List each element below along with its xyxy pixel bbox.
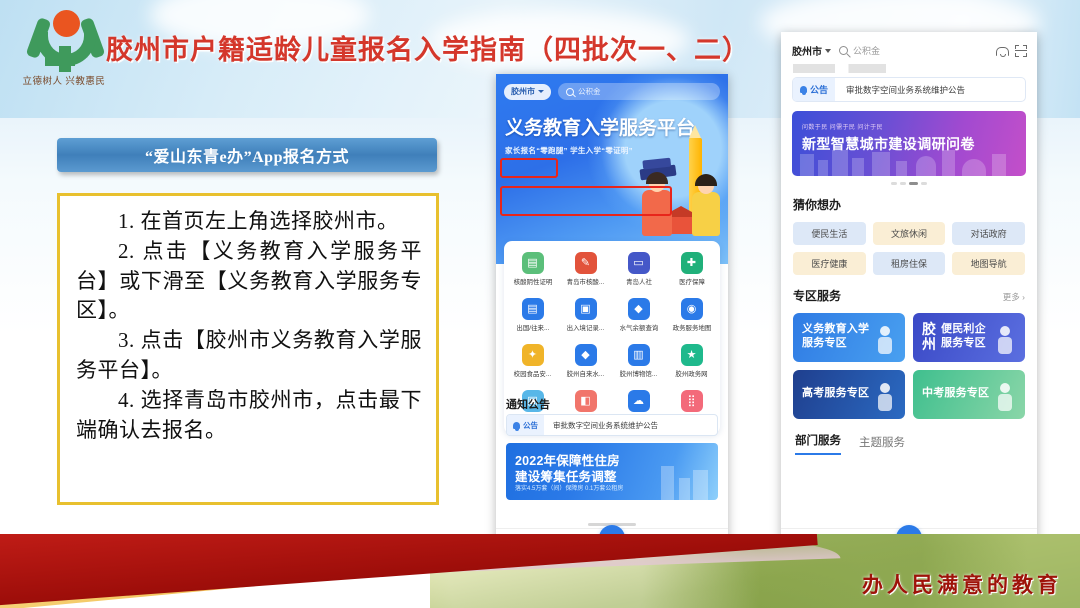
- skyline-shape: [800, 154, 814, 176]
- skyline-shape: [852, 158, 864, 176]
- guess-tag-label: 便民生活: [811, 227, 847, 240]
- skyline-shape: [818, 160, 828, 176]
- promo-banner-carousel[interactable]: 问数于民 问需于民 问计于民 新型智慧城市建设调研问卷: [792, 111, 1026, 176]
- pen-test-icon: ✎: [575, 252, 597, 274]
- bell-icon: [800, 86, 807, 93]
- certificate-icon: ▤: [522, 252, 544, 274]
- zone-card-title: 便民利企服务专区: [941, 323, 986, 351]
- service-grid-item[interactable]: ◆胶州自来水...: [559, 341, 612, 382]
- guess-tag-label: 地图导航: [971, 257, 1007, 270]
- guess-tag[interactable]: 地图导航: [952, 252, 1025, 275]
- service-tabs: 部门服务主题服务: [795, 432, 1037, 455]
- zone-more-link[interactable]: 更多 ›: [1003, 291, 1025, 303]
- zone-card-illustration: [870, 324, 900, 358]
- building-shape: [679, 478, 690, 500]
- service-grid-label: 胶州政务网: [675, 369, 707, 378]
- app-hero-banner: 胶州市 公积金 义务教育入学服务平台 家长报名“零跑腿” 学生入学“零证明”: [496, 74, 728, 264]
- banner-title: 新型智慧城市建设调研问卷: [802, 134, 975, 154]
- notice-bar[interactable]: 公告 审批数字空间业务系统维护公告: [792, 77, 1026, 102]
- droplets-icon: ◆: [575, 344, 597, 366]
- skyline-shape: [916, 156, 936, 176]
- service-grid-item[interactable]: ▤核酸阴性证明: [506, 249, 559, 290]
- zone-card[interactable]: 高考服务专区: [793, 370, 905, 419]
- banner-subtitle: 问数于民 问需于民 问计于民: [802, 122, 883, 131]
- banner-line-3: 落实4.5万套（间）保障房 0.1万套公租房: [515, 483, 623, 492]
- guess-tag[interactable]: 便民生活: [793, 222, 866, 245]
- carousel-dots[interactable]: [781, 182, 1037, 185]
- skyline-shape: [992, 154, 1006, 176]
- service-grid-label: 出入境记录...: [567, 323, 605, 332]
- zone-card[interactable]: 胶州便民利企服务专区: [913, 313, 1025, 362]
- shield-icon: ✦: [522, 344, 544, 366]
- instruction-step: 2. 点击【义务教育入学服务平台】或下滑至【义务教育入学服务专区】。: [76, 237, 422, 326]
- service-grid-item[interactable]: ▭青岛人社: [612, 249, 665, 290]
- city-selector-label: 胶州市: [511, 86, 535, 97]
- zone-more-label: 更多: [1003, 292, 1020, 302]
- zone-card[interactable]: 中考服务专区: [913, 370, 1025, 419]
- notice-section-title: 通知公告: [506, 396, 550, 412]
- guess-tag-label: 对话政府: [971, 227, 1007, 240]
- briefcase-icon: ▭: [628, 252, 650, 274]
- skyline-shape: [872, 152, 890, 176]
- carousel-dot[interactable]: [921, 182, 927, 185]
- app-topbar: 胶州市 公积金: [496, 74, 728, 100]
- logo-mark: [14, 6, 114, 72]
- tab-主题服务[interactable]: 主题服务: [859, 434, 905, 455]
- guess-section-title: 猜你想办: [793, 196, 1037, 213]
- carousel-dot-active[interactable]: [909, 182, 918, 185]
- carousel-dot[interactable]: [891, 182, 897, 185]
- carousel-dot[interactable]: [900, 182, 906, 185]
- service-grid-label: 胶州自来水...: [567, 369, 605, 378]
- promo-banner[interactable]: 2022年保障性住房 建设筹集任务调整 落实4.5万套（间）保障房 0.1万套公…: [506, 443, 718, 500]
- slide-canvas: 立德树人 兴教惠民 胶州市户籍适龄儿童报名入学指南（四批次一、二） “爱山东青e…: [0, 0, 1080, 608]
- service-grid-label: 出国/往来...: [516, 323, 549, 332]
- service-grid-label: 水气余额查询: [619, 323, 658, 332]
- zone-section-header: 专区服务 更多 ›: [793, 287, 1025, 304]
- cloud-icon: ☁: [628, 390, 650, 412]
- bell-icon: [513, 422, 520, 429]
- tab-部门服务[interactable]: 部门服务: [795, 432, 841, 455]
- instruction-step: 3. 点击【胶州市义务教育入学服务平台】。: [76, 326, 422, 386]
- person-figure: [642, 190, 672, 236]
- instructions-box: 1. 在首页左上角选择胶州市。 2. 点击【义务教育入学服务平台】或下滑至【义务…: [57, 193, 439, 505]
- zone-card-title2: 服务专区: [941, 337, 986, 351]
- service-grid-item[interactable]: ◆水气余额查询: [612, 295, 665, 336]
- service-grid-label: 青岛市核酸...: [567, 277, 605, 286]
- page-title: 胶州市户籍适龄儿童报名入学指南（四批次一、二）: [106, 28, 750, 67]
- city-selector[interactable]: 胶州市: [792, 43, 831, 58]
- service-grid-item[interactable]: ◉政务服务地图: [665, 295, 718, 336]
- phone-mockup-scrolled: 胶州市 公积金 公告 审批数字空间业务系统维护公告: [781, 32, 1037, 568]
- service-grid-item[interactable]: ✚医疗保障: [665, 249, 718, 290]
- service-grid-label: 政务服务地图: [672, 323, 711, 332]
- zone-card-illustration: [990, 381, 1020, 415]
- zone-card-title: 中考服务专区: [922, 387, 989, 401]
- bottom-decoration: 办人民满意的教育: [0, 534, 1080, 608]
- skyline-shape: [962, 159, 986, 176]
- zone-card-title: 义务教育入学服务专区: [802, 323, 869, 351]
- guess-tag[interactable]: 对话政府: [952, 222, 1025, 245]
- id-card-icon: ▤: [522, 298, 544, 320]
- app-topbar: 胶州市 公积金: [781, 32, 1037, 64]
- zone-section-title: 专区服务: [793, 287, 841, 304]
- hero-illustration: [606, 126, 726, 246]
- notice-tag: 公告: [507, 415, 544, 435]
- notice-tag: 公告: [793, 78, 835, 101]
- section-header-label: “爱山东青e办”App报名方式: [145, 143, 349, 167]
- service-grid-item[interactable]: ▥胶州博物馆...: [612, 341, 665, 382]
- guess-tag[interactable]: 医疗健康: [793, 252, 866, 275]
- instruction-step: 1. 在首页左上角选择胶州市。: [76, 207, 422, 237]
- search-icon: [839, 46, 848, 55]
- service-grid-label: 胶州博物馆...: [620, 369, 658, 378]
- search-input[interactable]: 公积金: [558, 83, 720, 100]
- search-placeholder: 公积金: [578, 86, 601, 97]
- service-grid-item[interactable]: ★胶州政务网: [665, 341, 718, 382]
- service-grid-label: 校园食品安...: [514, 369, 552, 378]
- notice-tag-label: 公告: [810, 83, 828, 96]
- school-logo: 立德树人 兴教惠民: [14, 6, 114, 92]
- highlight-box-city: [500, 158, 558, 178]
- partial-scrolled-text: [793, 64, 1025, 73]
- star-badge-icon: ★: [681, 344, 703, 366]
- service-grid-label: 医疗保障: [679, 277, 705, 286]
- service-grid-item[interactable]: ▣出入境记录...: [559, 295, 612, 336]
- notice-tag-label: 公告: [523, 420, 538, 431]
- chevron-down-icon: [538, 90, 544, 93]
- building-shape: [693, 470, 708, 500]
- zone-card-title2: 服务专区: [802, 337, 869, 351]
- zone-card-prefix: 胶州: [922, 322, 936, 353]
- notice-bar[interactable]: 公告 审批数字空间业务系统维护公告: [506, 414, 718, 436]
- phone-mockup-home: 胶州市 公积金 义务教育入学服务平台 家长报名“零跑腿” 学生入学“零证明”: [496, 74, 728, 568]
- guess-tag-label: 租房住保: [891, 257, 927, 270]
- water-drop-icon: ◆: [628, 298, 650, 320]
- person-figure: [692, 192, 720, 236]
- service-grid-item[interactable]: ▤出国/往来...: [506, 295, 559, 336]
- medical-kit-icon: ✚: [681, 252, 703, 274]
- scan-icon[interactable]: [1015, 45, 1027, 57]
- skyline-shape: [896, 161, 907, 176]
- search-input[interactable]: 公积金: [839, 44, 988, 57]
- zone-card-illustration: [990, 324, 1020, 358]
- guess-tag[interactable]: 租房住保: [873, 252, 946, 275]
- city-selector-chip[interactable]: 胶州市: [504, 84, 551, 100]
- section-header-bar: “爱山东青e办”App报名方式: [57, 138, 437, 172]
- map-pin-icon: ◉: [681, 298, 703, 320]
- service-grid-item[interactable]: ✎青岛市核酸...: [559, 249, 612, 290]
- guess-tag-label: 医疗健康: [811, 257, 847, 270]
- search-placeholder: 公积金: [853, 44, 880, 57]
- zone-card-illustration: [870, 381, 900, 415]
- city-selector-label: 胶州市: [792, 43, 822, 58]
- logo-bar: [45, 56, 75, 66]
- service-grid-item[interactable]: ✦校园食品安...: [506, 341, 559, 382]
- service-grid-label: 青岛人社: [626, 277, 652, 286]
- service-grid-label: 核酸阴性证明: [513, 277, 552, 286]
- guess-tag-list: 便民生活文旅休闲对话政府医疗健康租房住保地图导航: [793, 222, 1025, 275]
- guess-tag-label: 文旅休闲: [891, 227, 927, 240]
- grid-more-icon: ⣿: [681, 390, 703, 412]
- chevron-down-icon: [825, 49, 831, 53]
- logo-motto: 立德树人 兴教惠民: [14, 73, 114, 87]
- guess-tag[interactable]: 文旅休闲: [873, 222, 946, 245]
- building-icon: ▥: [628, 344, 650, 366]
- building-shape: [661, 466, 674, 500]
- notice-text: 审批数字空间业务系统维护公告: [835, 84, 965, 96]
- topbar-actions: [996, 45, 1027, 57]
- notice-text: 审批数字空间业务系统维护公告: [544, 420, 658, 431]
- megaphone-icon: ◧: [575, 390, 597, 412]
- bottom-slogan: 办人民满意的教育: [862, 569, 1062, 599]
- zone-card[interactable]: 义务教育入学服务专区: [793, 313, 905, 362]
- search-icon: [566, 88, 574, 96]
- zone-card-title: 高考服务专区: [802, 387, 869, 401]
- zone-card-grid: 义务教育入学服务专区胶州便民利企服务专区高考服务专区中考服务专区: [793, 313, 1025, 419]
- instruction-step: 4. 选择青岛市胶州市，点击最下端确认去报名。: [76, 386, 422, 446]
- bell-icon[interactable]: [996, 45, 1007, 57]
- doc-search-icon: ▣: [575, 298, 597, 320]
